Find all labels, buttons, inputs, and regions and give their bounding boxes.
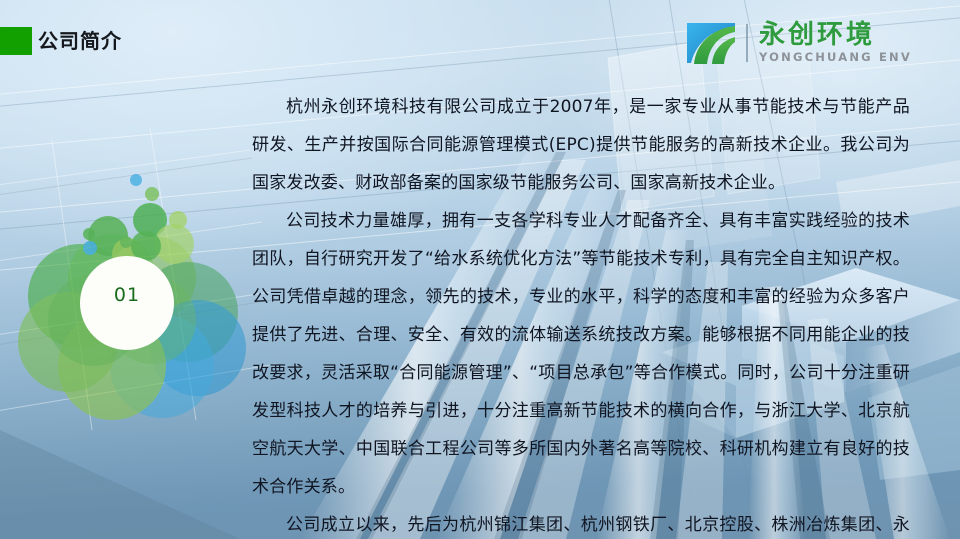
slide-canvas: 公司简介 永创环境 YONGCHUANG ENV [0, 0, 960, 539]
title-accent-marker [0, 27, 32, 55]
logo-leaf-icon [685, 20, 737, 66]
logo-english-name: YONGCHUANG ENV [759, 51, 912, 64]
logo-chinese-name: 永创环境 [759, 22, 912, 49]
paragraph-3: 公司成立以来，先后为杭州锦江集团、杭州钢铁厂、北京控股、株洲冶炼集团、永城煤电控… [252, 506, 910, 539]
decorative-circle-graphic: 01 [2, 170, 252, 420]
logo-wordmark: 永创环境 YONGCHUANG ENV [759, 22, 912, 64]
page-title: 公司简介 [38, 27, 122, 55]
company-logo: 永创环境 YONGCHUANG ENV [685, 18, 912, 68]
company-introduction-text: 杭州永创环境科技有限公司成立于2007年，是一家专业从事节能技术与节能产品研发、… [252, 88, 910, 539]
logo-divider [746, 24, 748, 62]
paragraph-2: 公司技术力量雄厚，拥有一支各学科专业人才配备齐全、具有丰富实践经验的技术团队，自… [252, 202, 910, 506]
paragraph-1: 杭州永创环境科技有限公司成立于2007年，是一家专业从事节能技术与节能产品研发、… [252, 88, 910, 202]
